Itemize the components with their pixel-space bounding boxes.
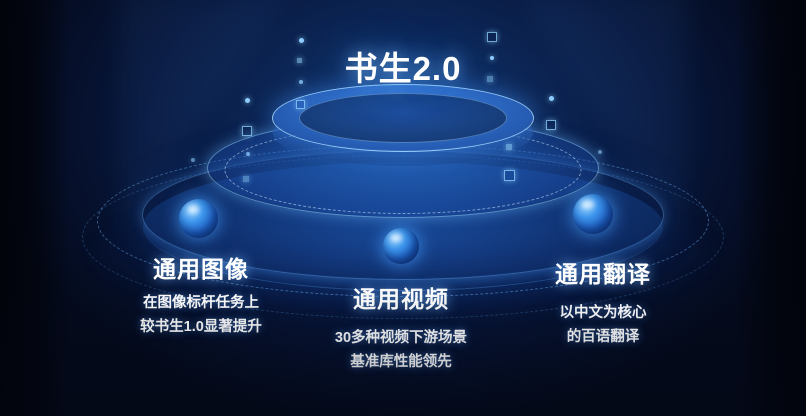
podium-top-inner-ring: [299, 93, 507, 143]
pillar-heading: 通用图像: [96, 250, 306, 284]
pillar-heading: 通用翻译: [498, 255, 708, 289]
node-sphere-translation[interactable]: [573, 194, 613, 234]
particle-square-outline: [487, 32, 497, 42]
particle-dot: [549, 96, 554, 101]
bottom-edge-shade: [0, 286, 806, 416]
particle-square: [506, 144, 512, 150]
particle-square-outline: [296, 100, 305, 109]
slide-canvas: 书生2.0 通用图像 在图像标杆任务上 较书生1.0显著提升 通用视频 30多种…: [0, 0, 806, 416]
particle-dot: [246, 152, 250, 156]
particle-square-outline: [242, 126, 252, 136]
particle-square: [243, 176, 249, 182]
node-sphere-image[interactable]: [179, 199, 218, 238]
page-title: 书生2.0: [0, 42, 806, 90]
particle-square-outline: [546, 120, 556, 130]
particle-dot: [191, 158, 195, 162]
particle-square-outline: [504, 170, 515, 181]
node-sphere-video[interactable]: [383, 228, 419, 264]
particle-dot: [598, 150, 602, 154]
particle-dot: [245, 98, 250, 103]
